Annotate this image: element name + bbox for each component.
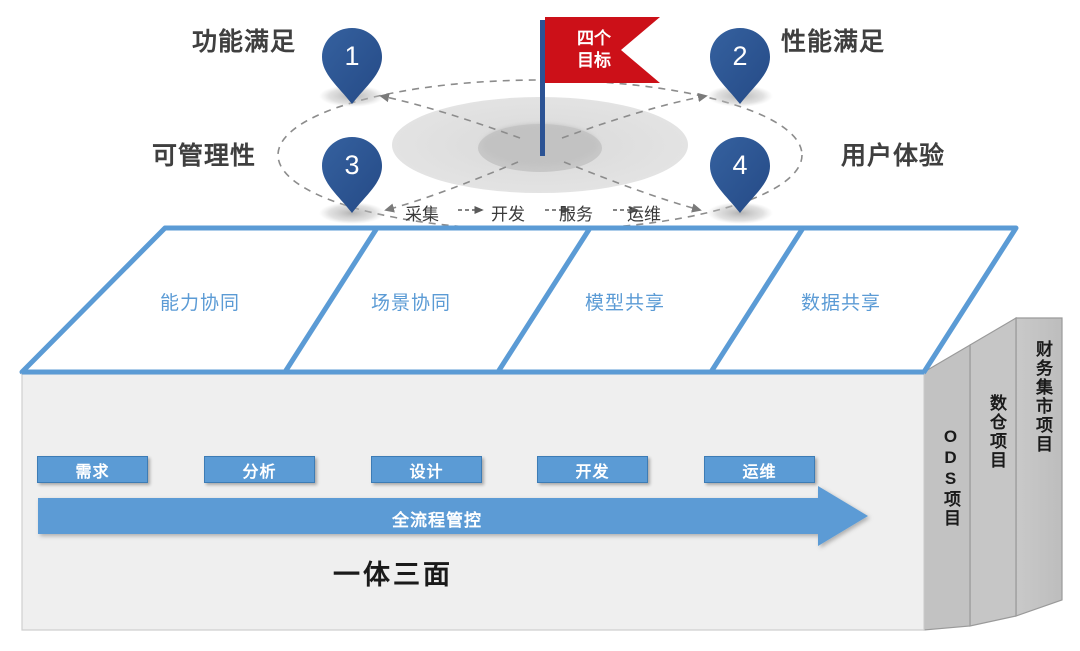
side-panel-label-3: 财务集市项目	[1030, 340, 1055, 454]
pin-number-4: 4	[718, 150, 762, 181]
process-step-4: 运维	[627, 200, 661, 225]
stage-chip-analysis[interactable]: 分析	[204, 456, 315, 483]
process-arrow-label: 全流程管控	[392, 506, 482, 531]
goal-label-3: 可管理性	[152, 136, 256, 172]
flag-text-line1: 四个	[562, 28, 626, 49]
process-step-2: 开发	[491, 200, 525, 225]
stage-chip-requirement[interactable]: 需求	[37, 456, 148, 483]
side-panel-2	[970, 318, 1016, 626]
pin-number-2: 2	[718, 41, 762, 72]
flag-text-line2: 目标	[562, 50, 626, 71]
goal-label-2: 性能满足	[781, 22, 885, 58]
goal-label-1: 功能满足	[192, 22, 296, 58]
stage-chip-design[interactable]: 设计	[371, 456, 482, 483]
process-step-3: 服务	[559, 200, 593, 225]
top-face-label-3: 模型共享	[585, 288, 665, 315]
diagram-graphics	[0, 0, 1080, 651]
flag-pole	[540, 20, 545, 156]
stage-chip-development[interactable]: 开发	[537, 456, 648, 483]
top-face-label-1: 能力协同	[160, 288, 240, 315]
top-face-label-2: 场景协同	[371, 288, 451, 315]
pin-number-1: 1	[330, 41, 374, 72]
bottom-title: 一体三面	[333, 553, 453, 592]
side-panel-label-2: 数仓项目	[984, 394, 1009, 470]
process-step-1: 采集	[405, 200, 439, 225]
goal-label-4: 用户体验	[841, 136, 945, 172]
diagram-canvas: 功能满足 性能满足 可管理性 用户体验 1 2 3 4 四个 目标 采集 开发 …	[0, 0, 1080, 651]
side-panel-label-1: ODS项目	[938, 427, 963, 528]
top-face-label-4: 数据共享	[801, 288, 881, 315]
stage-chip-operations[interactable]: 运维	[704, 456, 815, 483]
pin-number-3: 3	[330, 150, 374, 181]
